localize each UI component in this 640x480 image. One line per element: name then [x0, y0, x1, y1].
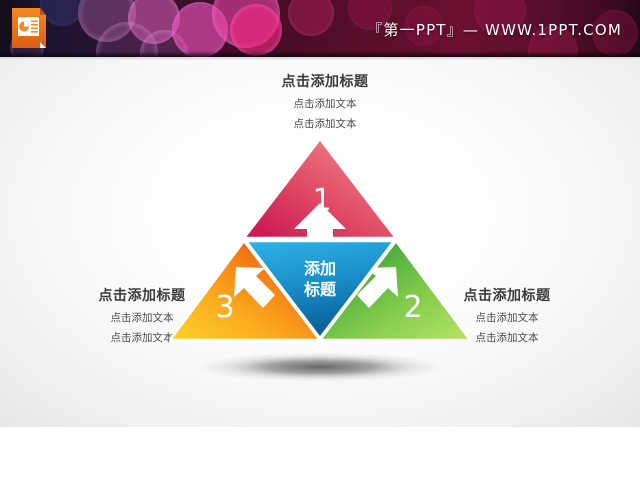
bokeh-circle	[212, 0, 280, 48]
powerpoint-file-icon	[10, 6, 48, 50]
triangle-segment-1[interactable]: 1	[244, 139, 396, 238]
bokeh-circle	[128, 0, 180, 44]
bokeh-circle	[172, 2, 228, 57]
text-block-top-line-1: 点击添加文本	[232, 96, 418, 111]
ppt-slide: 『第一PPT』— WWW.1PPT.COM 点击添加标题 点击添加文本 点击添加…	[0, 0, 640, 480]
center-label-line-1: 添加	[304, 259, 336, 278]
footer-bar: 第一PPT HTTP://WWW.1PPT.COM	[0, 427, 640, 480]
bokeh-circle	[288, 0, 334, 36]
bokeh-circle	[78, 0, 136, 42]
diagram-shadow	[196, 352, 444, 382]
triangle-segment-1-number: 1	[312, 183, 331, 218]
triangle-segment-2-number: 2	[403, 290, 422, 325]
header-banner: 『第一PPT』— WWW.1PPT.COM	[0, 0, 640, 57]
bokeh-circle	[230, 4, 282, 56]
canvas-top-edge	[0, 57, 640, 60]
text-block-top-title: 点击添加标题	[232, 71, 418, 91]
text-block-top[interactable]: 点击添加标题 点击添加文本 点击添加文本	[232, 71, 418, 131]
header-title: 『第一PPT』— WWW.1PPT.COM	[367, 19, 622, 40]
triangle-segment-3-number: 3	[215, 290, 234, 325]
triangle-diagram: 1 3 2 添加 标题	[170, 125, 470, 385]
center-label-line-2: 标题	[303, 280, 337, 299]
